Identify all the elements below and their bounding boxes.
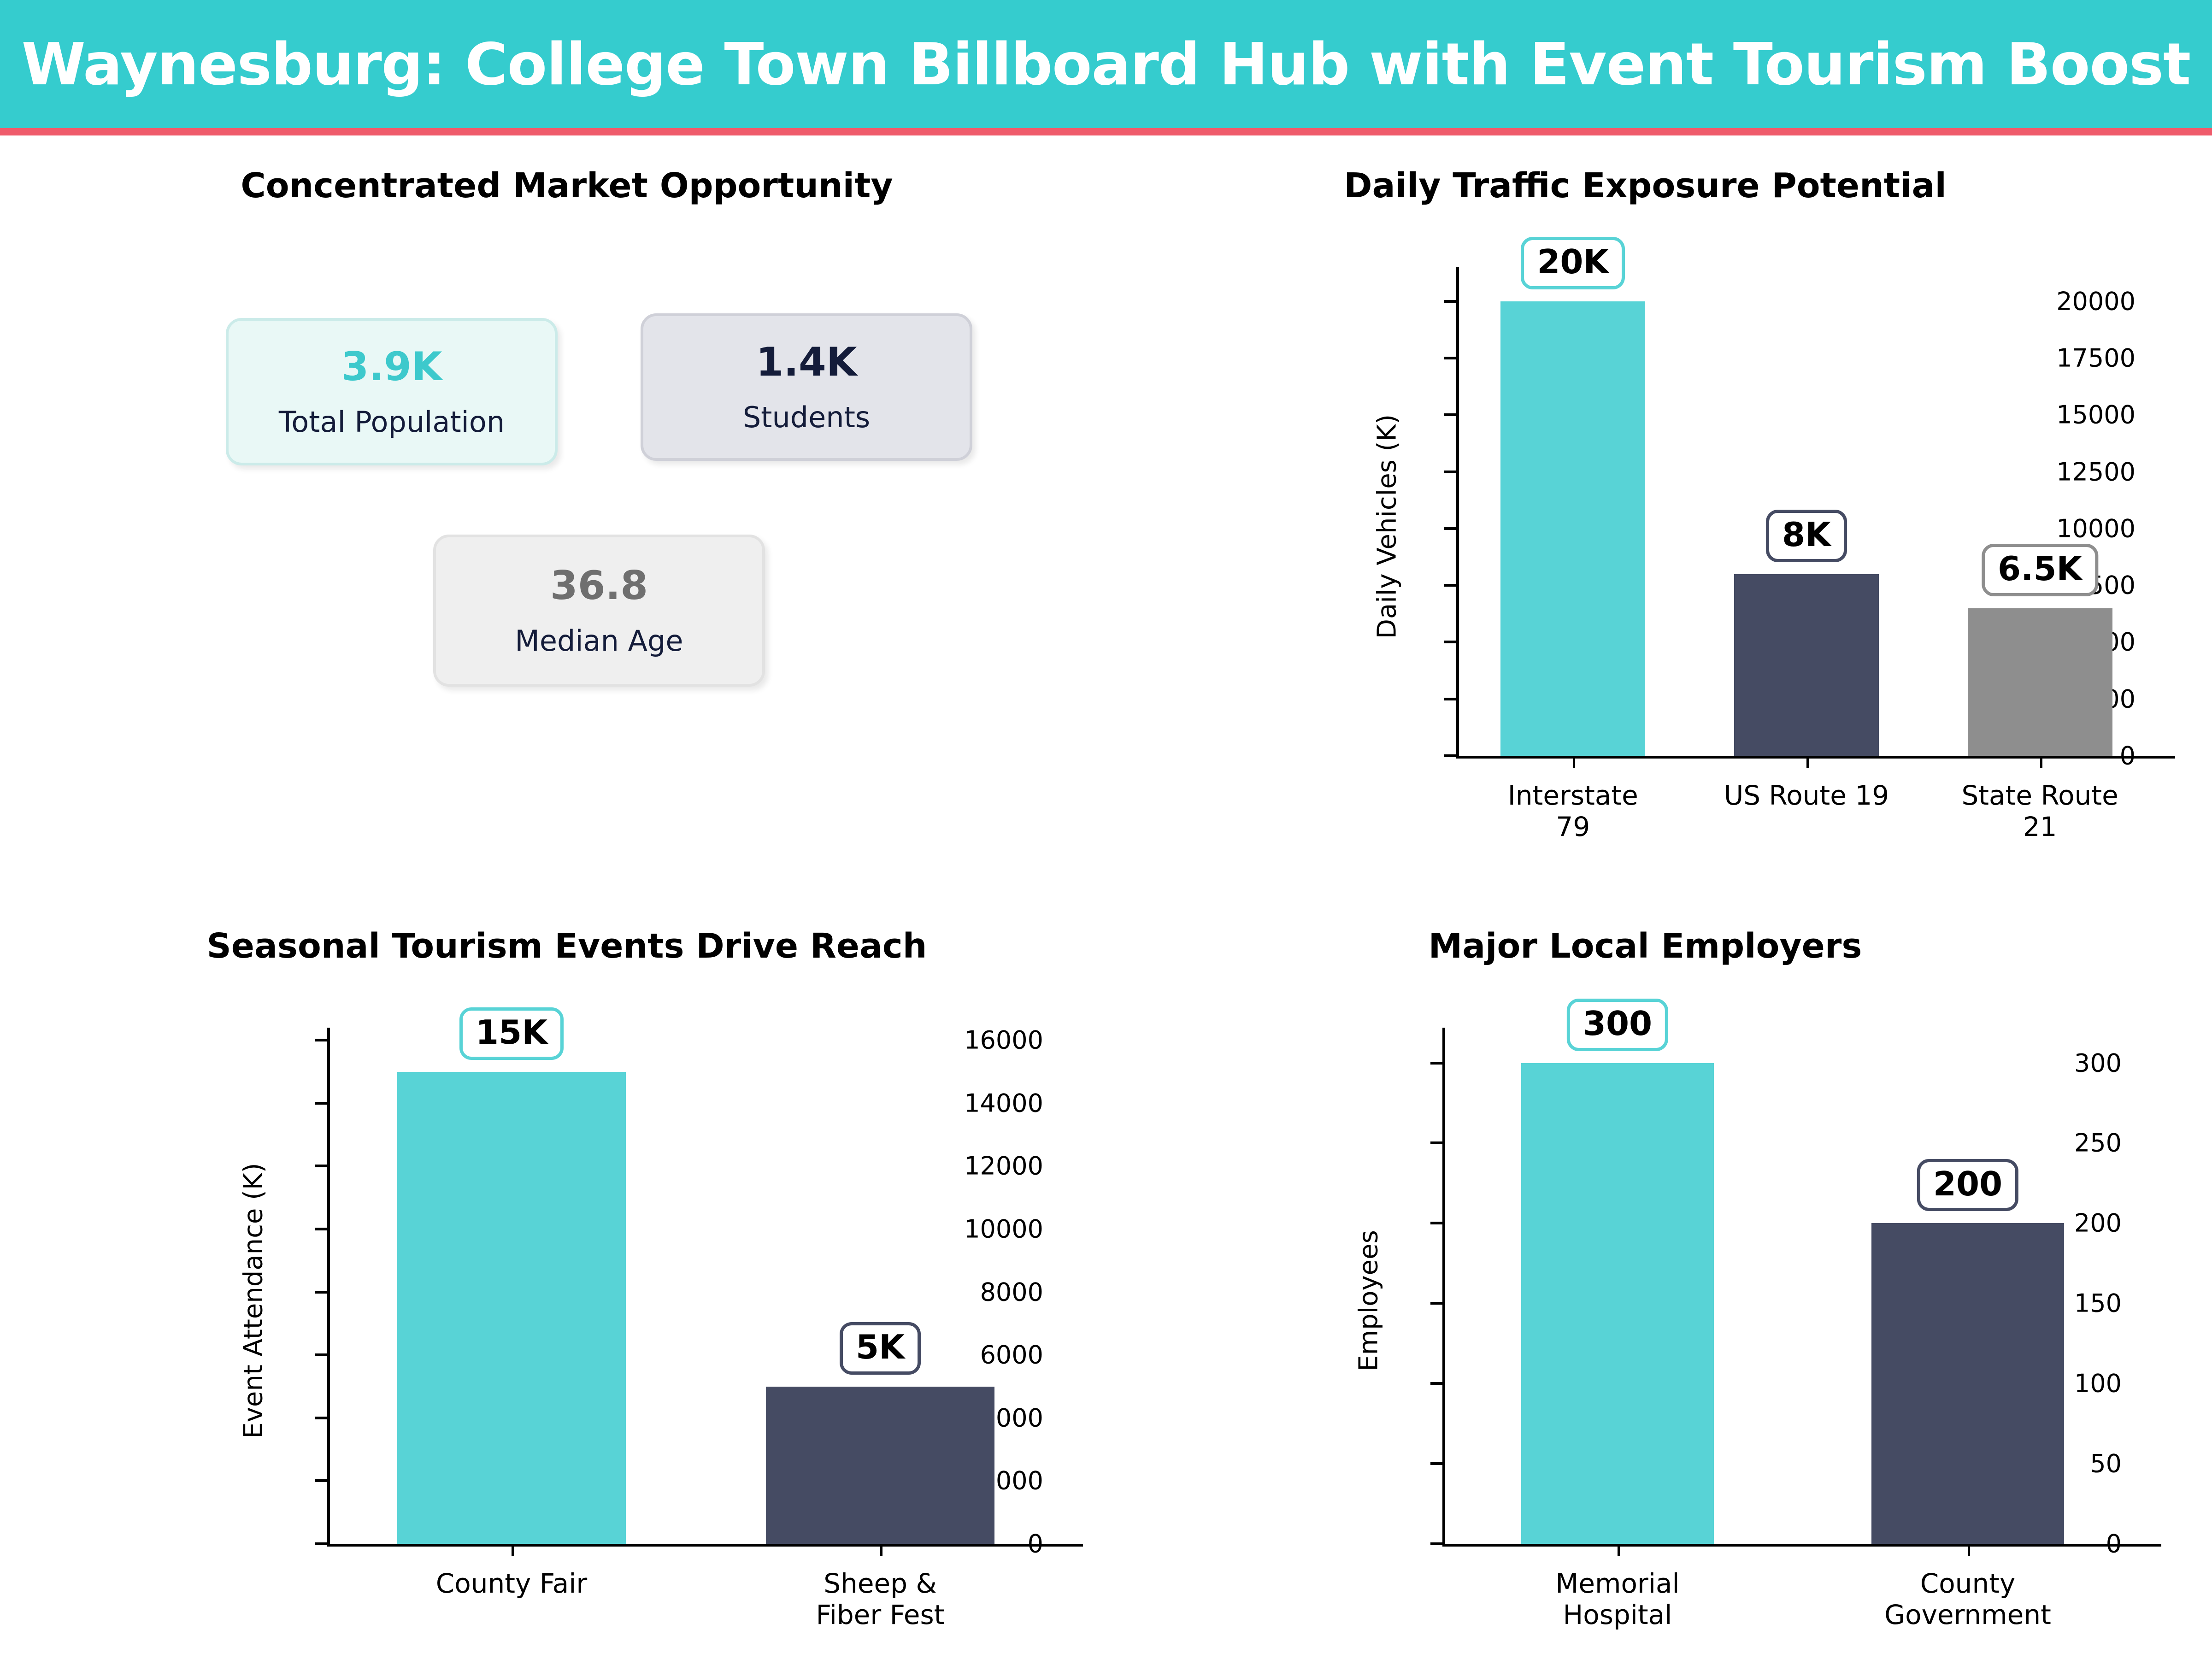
chart-seasonal-tourism: Event Attendance (K)02000400060008000100… <box>175 1000 1097 1631</box>
kpi-label-students: Students <box>743 403 870 432</box>
bar-value-label-employers-1: 200 <box>1917 1159 2018 1212</box>
y-tick-mark <box>1444 584 1456 587</box>
panel-daily-traffic: Daily Traffic Exposure Potential Daily V… <box>1106 138 2184 885</box>
bar-employers-0[interactable] <box>1521 1063 1714 1544</box>
y-tick-mark <box>1430 1462 1442 1465</box>
dashboard-title: Waynesburg: College Town Billboard Hub w… <box>22 30 2191 98</box>
kpi-label-total-population: Total Population <box>279 408 505 436</box>
x-tick-label-tourism-1: Sheep & Fiber Fest <box>654 1568 1106 1631</box>
x-axis-spine-tourism <box>327 1544 1083 1547</box>
kpi-value-total-population: 3.9K <box>341 347 442 387</box>
bar-tourism-1[interactable] <box>766 1387 994 1544</box>
y-tick-label: 15000 <box>2056 400 2136 429</box>
y-tick-mark <box>315 1542 327 1545</box>
x-tick-label-traffic-2: State Route 21 <box>1882 780 2198 843</box>
y-tick-label: 14000 <box>964 1088 1043 1118</box>
x-axis-spine-traffic <box>1456 756 2175 759</box>
y-axis-label-tourism: Event Attendance (K) <box>239 1043 269 1559</box>
y-tick-label: 12000 <box>964 1152 1043 1181</box>
y-tick-mark <box>1430 1302 1442 1305</box>
x-tick-mark-traffic-1 <box>1806 756 1809 768</box>
y-tick-label: 0 <box>1028 1530 1043 1559</box>
y-tick-label: 50 <box>2090 1449 2122 1478</box>
y-tick-label: 200 <box>2074 1209 2122 1238</box>
y-tick-mark <box>315 1479 327 1482</box>
panel-market-opportunity: Concentrated Market Opportunity 3.9K Tot… <box>28 138 1106 885</box>
y-tick-label: 250 <box>2074 1129 2122 1158</box>
y-tick-mark <box>1430 1382 1442 1385</box>
y-tick-label: 12500 <box>2056 457 2136 486</box>
y-tick-label: 0 <box>2106 1530 2122 1559</box>
y-tick-label: 20000 <box>2056 287 2136 316</box>
y-tick-mark <box>1444 471 1456 473</box>
plot-area-tourism: 020004000600080001000012000140001600015K… <box>327 1028 1065 1544</box>
bar-traffic-1[interactable] <box>1734 574 1879 756</box>
bar-tourism-0[interactable] <box>397 1072 626 1544</box>
bar-value-label-tourism-0: 15K <box>459 1007 564 1060</box>
y-tick-mark <box>1430 1062 1442 1065</box>
y-tick-mark <box>1444 413 1456 416</box>
kpi-label-median-age: Median Age <box>515 627 683 655</box>
kpi-card-median-age[interactable]: 36.8 Median Age <box>433 535 765 687</box>
bar-employers-1[interactable] <box>1871 1223 2064 1544</box>
y-axis-label-traffic: Daily Vehicles (K) <box>1372 282 1402 771</box>
y-tick-mark <box>315 1417 327 1419</box>
x-tick-mark-employers-0 <box>1618 1544 1620 1556</box>
y-tick-mark <box>1430 1222 1442 1224</box>
y-tick-label: 8000 <box>980 1277 1043 1306</box>
y-tick-label: 300 <box>2074 1048 2122 1077</box>
bar-traffic-0[interactable] <box>1500 301 1645 756</box>
y-tick-mark <box>315 1102 327 1105</box>
y-tick-mark <box>315 1353 327 1356</box>
y-tick-label: 16000 <box>964 1026 1043 1055</box>
x-tick-label-employers-1: County Government <box>1751 1568 2184 1631</box>
bar-value-label-traffic-2: 6.5K <box>1982 544 2098 596</box>
y-tick-mark <box>1430 1542 1442 1545</box>
kpi-card-students[interactable]: 1.4K Students <box>641 313 972 461</box>
x-tick-mark-traffic-2 <box>2040 756 2042 768</box>
kpi-card-total-population[interactable]: 3.9K Total Population <box>226 318 558 465</box>
panel-seasonal-tourism: Seasonal Tourism Events Drive Reach Even… <box>28 885 1106 1659</box>
y-tick-mark <box>1444 527 1456 530</box>
bar-value-label-tourism-1: 5K <box>840 1322 921 1375</box>
y-tick-label: 6000 <box>980 1341 1043 1370</box>
y-tick-label: 10000 <box>2056 514 2136 543</box>
y-axis-label-employers: Employees <box>1354 1043 1384 1559</box>
y-axis-spine-employers <box>1442 1028 1445 1544</box>
panel-title-major-employers: Major Local Employers <box>1106 926 2184 966</box>
y-tick-label: 0 <box>2120 741 2136 771</box>
kpi-value-median-age: 36.8 <box>550 566 648 606</box>
dashboard-header: Waynesburg: College Town Billboard Hub w… <box>0 0 2212 128</box>
y-tick-mark <box>315 1165 327 1167</box>
x-tick-mark-employers-1 <box>1968 1544 1970 1556</box>
y-tick-label: 10000 <box>964 1215 1043 1244</box>
x-axis-spine-employers <box>1442 1544 2161 1547</box>
y-tick-mark <box>1430 1141 1442 1144</box>
kpi-value-students: 1.4K <box>756 342 857 382</box>
header-accent-bar <box>0 128 2212 135</box>
x-tick-mark-tourism-1 <box>880 1544 882 1556</box>
y-axis-spine-tourism <box>327 1028 330 1544</box>
plot-area-employers: 050100150200250300300Memorial Hospital20… <box>1442 1028 2143 1544</box>
panel-title-seasonal-tourism: Seasonal Tourism Events Drive Reach <box>28 926 1106 966</box>
y-tick-mark <box>315 1228 327 1230</box>
y-tick-mark <box>1444 641 1456 643</box>
y-tick-mark <box>1444 357 1456 359</box>
x-tick-mark-tourism-0 <box>512 1544 514 1556</box>
y-tick-mark <box>1444 698 1456 700</box>
chart-major-employers: Employees050100150200250300300Memorial H… <box>1290 1000 2175 1631</box>
y-tick-label: 100 <box>2074 1369 2122 1398</box>
panel-title-daily-traffic: Daily Traffic Exposure Potential <box>1106 166 2184 206</box>
bar-value-label-traffic-1: 8K <box>1766 510 1847 562</box>
bar-value-label-traffic-0: 20K <box>1521 237 1625 289</box>
y-tick-label: 17500 <box>2056 344 2136 373</box>
bar-value-label-employers-0: 300 <box>1567 999 1668 1051</box>
y-tick-mark <box>315 1039 327 1041</box>
panel-major-employers: Major Local Employers Employees050100150… <box>1106 885 2184 1659</box>
kpi-card-group: 3.9K Total Population 1.4K Students 36.8… <box>28 138 1106 885</box>
y-tick-label: 150 <box>2074 1289 2122 1318</box>
y-axis-spine-traffic <box>1456 267 1459 756</box>
x-tick-mark-traffic-0 <box>1573 756 1575 768</box>
y-tick-mark <box>1444 300 1456 303</box>
y-tick-mark <box>1444 754 1456 757</box>
chart-daily-traffic: Daily Vehicles (K)0250050007500100001250… <box>1304 240 2180 843</box>
bar-traffic-2[interactable] <box>1968 608 2112 756</box>
plot-area-traffic: 0250050007500100001250015000175002000020… <box>1456 267 2157 756</box>
y-tick-mark <box>315 1291 327 1294</box>
